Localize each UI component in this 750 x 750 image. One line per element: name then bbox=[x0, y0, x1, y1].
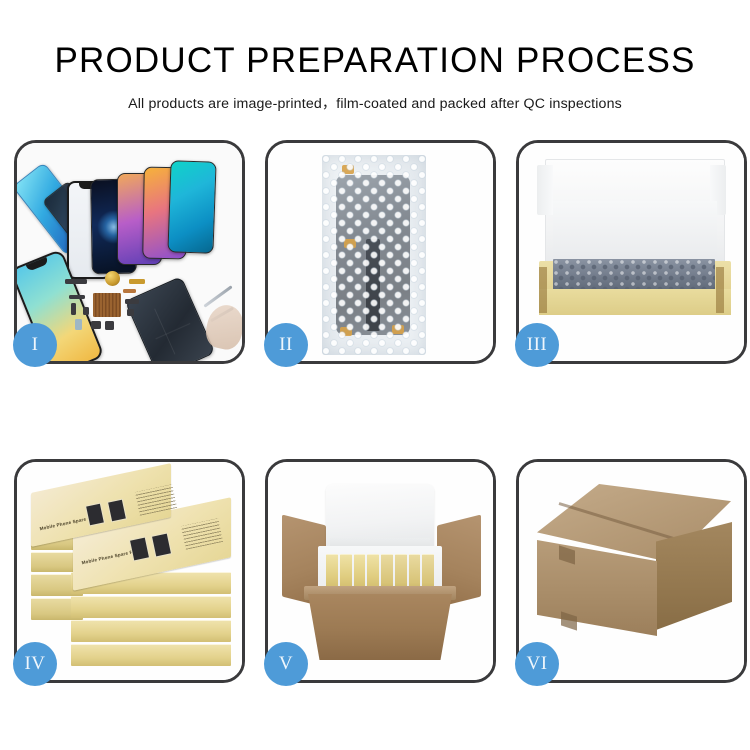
process-step-panel-4[interactable]: Mobile Phone Spare Parts Mobile Phone Sp… bbox=[14, 459, 245, 683]
bubble-wrap-scene bbox=[268, 143, 493, 361]
foam-backing-icon bbox=[553, 201, 717, 263]
process-step-grid: I II bbox=[14, 140, 736, 683]
step-badge-3: III bbox=[515, 323, 559, 367]
step-5-image bbox=[268, 462, 493, 680]
step-badge-4: IV bbox=[13, 642, 57, 686]
lid-flap-left-icon bbox=[537, 165, 553, 215]
step-3-image bbox=[519, 143, 744, 361]
bubble-texture bbox=[322, 155, 426, 355]
process-step-panel-1[interactable]: I bbox=[14, 140, 245, 364]
vibrator-icon bbox=[127, 309, 134, 316]
logic-board-icon bbox=[93, 293, 121, 317]
carton-body-icon bbox=[308, 594, 452, 660]
phone-parts-scene bbox=[17, 143, 242, 361]
phone-display-teal-icon bbox=[167, 160, 216, 254]
cable-icon-1 bbox=[69, 295, 85, 299]
step-badge-5: V bbox=[264, 642, 308, 686]
step-badge-6: VI bbox=[515, 642, 559, 686]
camera-module-icon bbox=[83, 307, 89, 315]
battery-connector-icon bbox=[65, 279, 87, 284]
step-4-image: Mobile Phone Spare Parts Mobile Phone Sp… bbox=[17, 462, 242, 680]
sealed-carton-scene bbox=[519, 462, 744, 680]
step-badge-1: I bbox=[13, 323, 57, 367]
cable-icon-2 bbox=[71, 303, 76, 315]
grey-foam-filling-icon bbox=[553, 259, 715, 291]
button-set-icon bbox=[105, 321, 114, 330]
process-step-panel-3[interactable]: III bbox=[516, 140, 747, 364]
step-1-image bbox=[17, 143, 242, 361]
bubble-bag-icon bbox=[322, 155, 426, 355]
box-stack: Mobile Phone Spare Parts Mobile Phone Sp… bbox=[25, 478, 241, 673]
process-step-panel-6[interactable]: VI bbox=[516, 459, 747, 683]
step-6-image bbox=[519, 462, 744, 680]
cable-icon-3 bbox=[125, 299, 139, 304]
tray-front-face bbox=[539, 289, 731, 315]
copper-flex-icon bbox=[123, 289, 136, 293]
tray-edge-left bbox=[539, 267, 547, 313]
sim-tray-icon bbox=[75, 319, 82, 330]
product-preparation-infographic: PRODUCT PREPARATION PROCESS All products… bbox=[0, 0, 750, 750]
speaker-mesh-icon bbox=[91, 321, 101, 329]
gold-flex-icon bbox=[129, 279, 145, 284]
page-subtitle: All products are image-printed，film-coat… bbox=[0, 93, 750, 113]
tray-edge-right bbox=[716, 267, 724, 313]
process-step-panel-2[interactable]: II bbox=[265, 140, 496, 364]
stacked-boxes-scene: Mobile Phone Spare Parts Mobile Phone Sp… bbox=[17, 462, 242, 680]
inner-box-scene bbox=[519, 143, 744, 361]
page-title: PRODUCT PREPARATION PROCESS bbox=[0, 42, 750, 81]
phone-backplate-icon bbox=[125, 276, 216, 361]
step-2-image bbox=[268, 143, 493, 361]
carton-packing-scene bbox=[268, 462, 493, 680]
process-step-panel-5[interactable]: V bbox=[265, 459, 496, 683]
speaker-module-icon bbox=[105, 271, 120, 286]
header: PRODUCT PREPARATION PROCESS All products… bbox=[0, 42, 750, 113]
step-badge-2: II bbox=[264, 323, 308, 367]
